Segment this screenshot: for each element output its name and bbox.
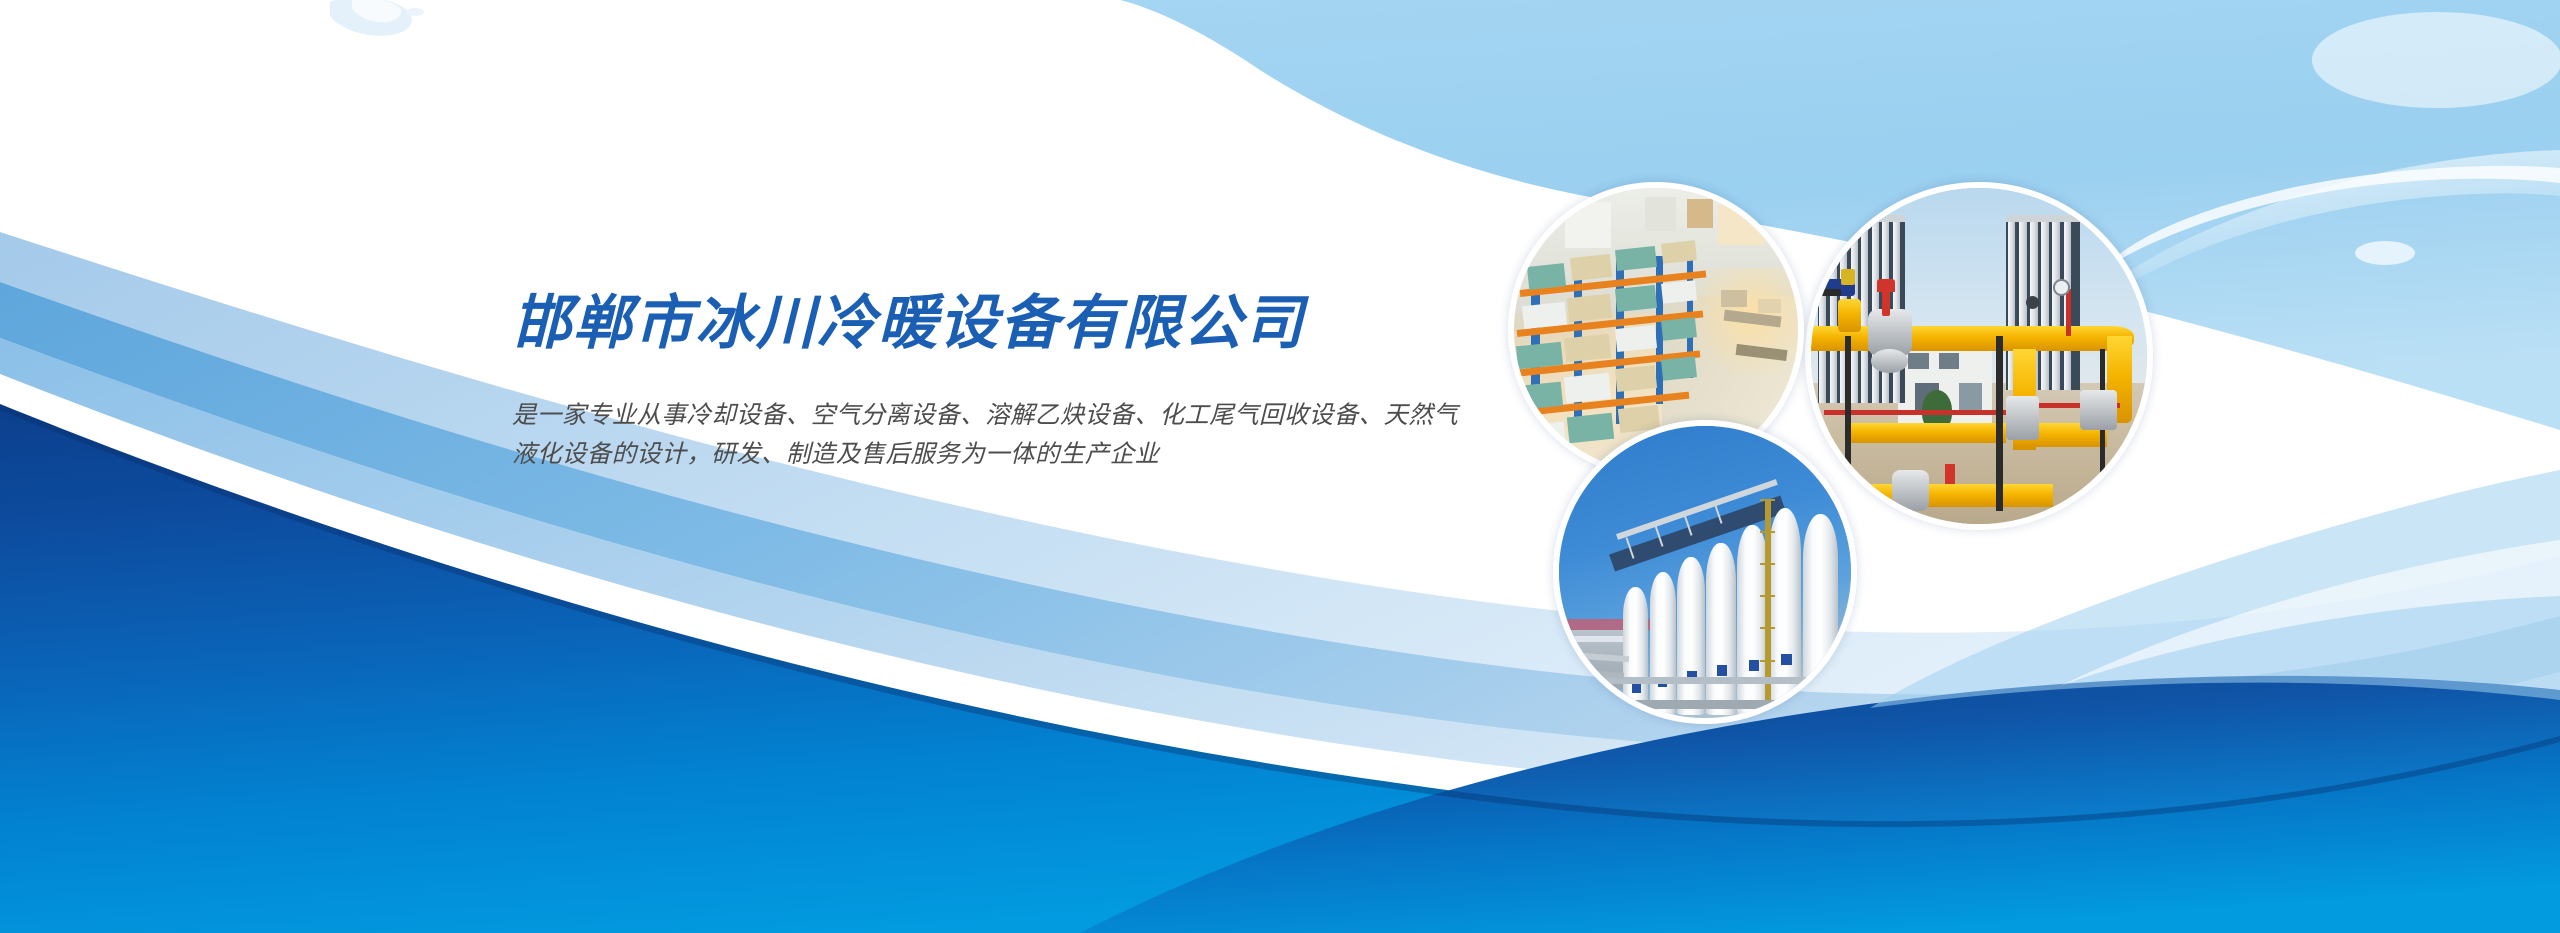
photo-circle-gas-pipeline bbox=[1805, 182, 2153, 530]
company-title: 邯郸市冰川冷暖设备有限公司 bbox=[512, 292, 1522, 356]
hero-banner: 邯郸市冰川冷暖设备有限公司 是一家专业从事冷却设备、空气分离设备、溶解乙炔设备、… bbox=[0, 0, 2560, 933]
company-description-line-2: 液化设备的设计，研发、制造及售后服务为一体的生产企业 bbox=[512, 435, 1522, 475]
gas-pipeline-photo bbox=[1811, 188, 2147, 524]
banner-text-block: 邯郸市冰川冷暖设备有限公司 是一家专业从事冷却设备、空气分离设备、溶解乙炔设备、… bbox=[512, 292, 1522, 475]
photo-circle-cryogenic-tanks bbox=[1553, 420, 1857, 724]
cryogenic-tanks-photo bbox=[1559, 426, 1851, 718]
company-description-line-1: 是一家专业从事冷却设备、空气分离设备、溶解乙炔设备、化工尾气回收设备、天然气 bbox=[512, 396, 1522, 436]
company-description: 是一家专业从事冷却设备、空气分离设备、溶解乙炔设备、化工尾气回收设备、天然气 液… bbox=[512, 396, 1522, 475]
